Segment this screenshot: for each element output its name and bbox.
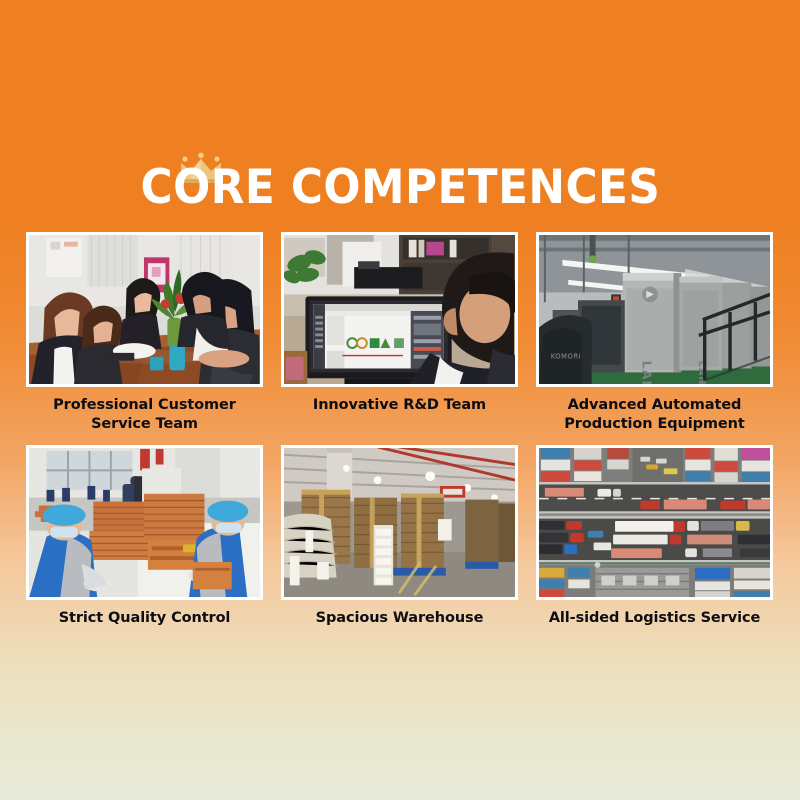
competence-card-advanced-automated-production-equipment[interactable]: LAND 800 LAND 800 KOMORI: [536, 232, 773, 433]
competences-row-1: Professional Customer Service Team: [26, 232, 774, 433]
page-title: CORE COMPETENCES: [140, 164, 660, 211]
photo-aerial-logistics-container-yard: [536, 445, 773, 600]
caption-professional-customer-service-team: Professional Customer Service Team: [26, 396, 263, 433]
caption-line-1: All-sided Logistics Service: [549, 610, 760, 626]
competence-card-all-sided-logistics-service[interactable]: All-sided Logistics Service: [536, 445, 773, 628]
competence-card-strict-quality-control[interactable]: Strict Quality Control: [26, 445, 263, 628]
page-title-block: CORE COMPETENCES: [0, 152, 800, 211]
caption-line-1: Advanced Automated: [568, 397, 742, 413]
caption-line-1: Spacious Warehouse: [316, 610, 484, 626]
caption-strict-quality-control: Strict Quality Control: [26, 609, 263, 628]
photo-rd-designer-workstation: [281, 232, 518, 387]
competences-row-2: Strict Quality Control: [26, 445, 774, 628]
caption-line-1: Professional Customer: [53, 397, 236, 413]
caption-line-1: Strict Quality Control: [59, 610, 231, 626]
competence-card-professional-customer-service-team[interactable]: Professional Customer Service Team: [26, 232, 263, 433]
photo-quality-control-inspection: [26, 445, 263, 600]
competences-grid: Professional Customer Service Team: [26, 232, 774, 628]
photo-spacious-warehouse: [281, 445, 518, 600]
photo-automated-printing-press: LAND 800 LAND 800 KOMORI: [536, 232, 773, 387]
competence-card-innovative-rd-team[interactable]: Innovative R&D Team: [281, 232, 518, 433]
svg-text:KOMORI: KOMORI: [551, 353, 581, 361]
core-competences-banner: CORE COMPETENCES: [0, 0, 800, 800]
caption-line-1: Innovative R&D Team: [313, 397, 486, 413]
svg-text:LAND 800: LAND 800: [639, 361, 654, 384]
caption-innovative-rd-team: Innovative R&D Team: [281, 396, 518, 415]
caption-advanced-automated-production-equipment: Advanced Automated Production Equipment: [536, 396, 773, 433]
caption-line-2: Production Equipment: [536, 415, 773, 434]
caption-line-2: Service Team: [26, 415, 263, 434]
photo-customer-service-meeting: [26, 232, 263, 387]
caption-spacious-warehouse: Spacious Warehouse: [281, 609, 518, 628]
caption-all-sided-logistics-service: All-sided Logistics Service: [536, 609, 773, 628]
competence-card-spacious-warehouse[interactable]: Spacious Warehouse: [281, 445, 518, 628]
